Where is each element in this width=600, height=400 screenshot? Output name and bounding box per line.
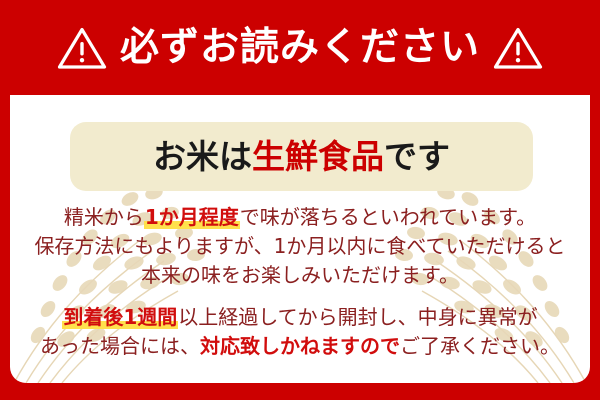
- page-title: 必ずお読みください: [120, 28, 480, 67]
- warning-triangle-icon: [56, 25, 108, 71]
- body-segment-emphasis: 対応致しかねますので: [200, 334, 400, 358]
- notice-card: 必ずお読みください: [0, 0, 600, 400]
- body-segment-emphasis: 1か月程度: [144, 205, 240, 229]
- warning-triangle-icon: [492, 25, 544, 71]
- body-segment: 保存方法にもよりますが、1か月以内に食べていただけると: [34, 234, 565, 258]
- banner-text-prefix: お米は: [153, 137, 252, 176]
- notice-body: 精米から1か月程度で味が落ちるといわれています。 保存方法にもよりますが、1か月…: [10, 203, 590, 361]
- header-band: 必ずお読みください: [0, 0, 600, 95]
- body-segment-emphasis: 到着後1週間: [62, 305, 178, 329]
- body-segment: 本来の味をお楽しみいただけます。: [141, 263, 459, 287]
- body-line: 本来の味をお楽しみいただけます。: [10, 261, 590, 290]
- content-panel: お米は生鮮食品です 精米から1か月程度で味が落ちるといわれています。 保存方法に…: [10, 95, 590, 383]
- body-line: あった場合には、対応致しかねますのでご了承ください。: [10, 332, 590, 361]
- freshness-banner-text: お米は生鮮食品です: [153, 140, 450, 173]
- body-line: 精米から1か月程度で味が落ちるといわれています。: [10, 203, 590, 232]
- body-line: 到着後1週間以上経過してから開封し、中身に異常が: [10, 303, 590, 332]
- body-segment: あった場合には、: [40, 334, 200, 358]
- banner-text-emphasis: 生鮮食品: [252, 137, 384, 176]
- banner-text-suffix: です: [384, 137, 450, 176]
- body-segment: 以上経過してから開封し、中身に異常が: [178, 305, 537, 329]
- paragraph-spacer: [10, 290, 590, 303]
- body-segment: 精米から: [64, 205, 144, 229]
- body-line: 保存方法にもよりますが、1か月以内に食べていただけると: [10, 232, 590, 261]
- body-segment: で味が落ちるといわれています。: [240, 205, 536, 229]
- body-segment: ご了承ください。: [400, 334, 560, 358]
- freshness-banner: お米は生鮮食品です: [70, 122, 533, 191]
